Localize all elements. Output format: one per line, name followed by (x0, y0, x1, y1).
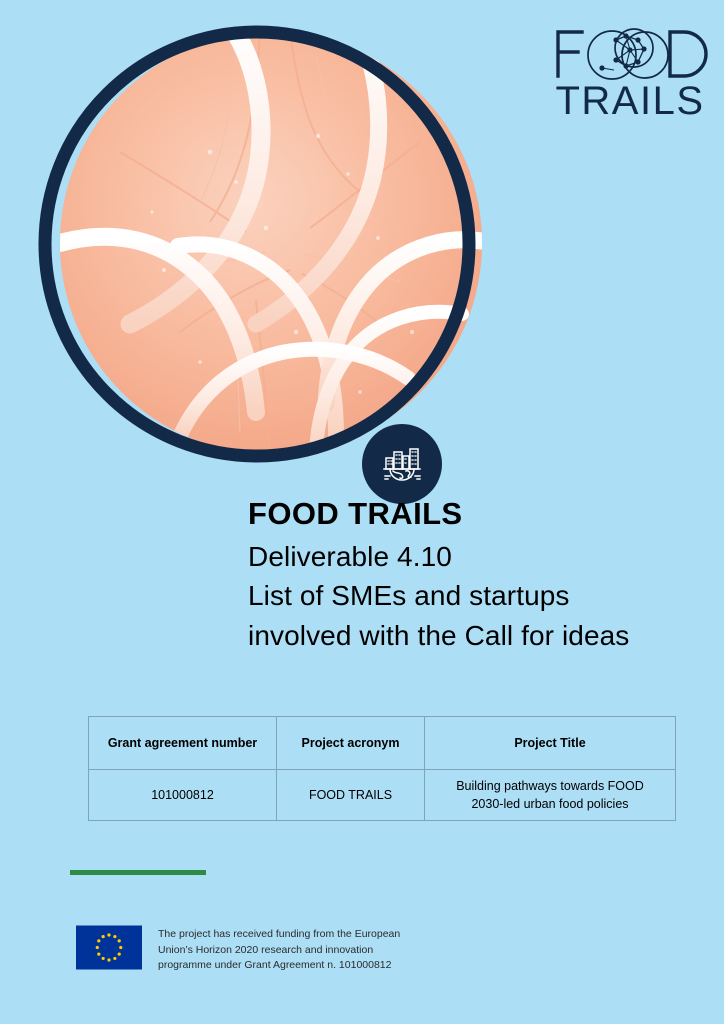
cell-project-acronym: FOOD TRAILS (277, 770, 425, 821)
deliverable-title-line1: List of SMEs and startups (248, 576, 708, 616)
cell-grant-agreement-number: 101000812 (89, 770, 277, 821)
eu-funding-statement: The project has received funding from th… (76, 925, 400, 974)
project-title-line1: Building pathways towards FOOD (456, 779, 644, 793)
header-project-title: Project Title (425, 717, 676, 770)
eu-text-line3: programme under Grant Agreement n. 10100… (158, 958, 400, 974)
header-project-acronym: Project acronym (277, 717, 425, 770)
food-trails-logo: TRAILS (552, 22, 708, 118)
table-row: 101000812 FOOD TRAILS Building pathways … (89, 770, 676, 821)
document-cover-page: TRAILS (0, 0, 724, 1024)
logo-artwork: TRAILS (552, 22, 708, 118)
title-block: FOOD TRAILS Deliverable 4.10 List of SME… (248, 494, 708, 656)
project-info-table: Grant agreement number Project acronym P… (88, 716, 676, 821)
project-title-line2: 2030-led urban food policies (471, 797, 628, 811)
eu-text-line2: Union’s Horizon 2020 research and innova… (158, 943, 400, 959)
table-header-row: Grant agreement number Project acronym P… (89, 717, 676, 770)
city-skyline-globe-icon (378, 440, 426, 488)
deliverable-title-line2: involved with the Call for ideas (248, 616, 708, 656)
urban-food-badge (362, 424, 442, 504)
eu-funding-text: The project has received funding from th… (158, 925, 400, 974)
header-grant-agreement-number: Grant agreement number (89, 717, 277, 770)
cell-project-title: Building pathways towards FOOD 2030-led … (425, 770, 676, 821)
eu-text-line1: The project has received funding from th… (158, 927, 400, 943)
logo-trails-text: TRAILS (555, 79, 704, 118)
european-union-flag-icon (76, 925, 142, 970)
hero-circle-graphic (22, 22, 492, 492)
grapefruit-illustration (60, 32, 482, 454)
grapefruit-photo (60, 32, 482, 454)
deliverable-number: Deliverable 4.10 (248, 537, 708, 577)
document-main-title: FOOD TRAILS (248, 494, 708, 534)
green-divider (70, 870, 206, 875)
